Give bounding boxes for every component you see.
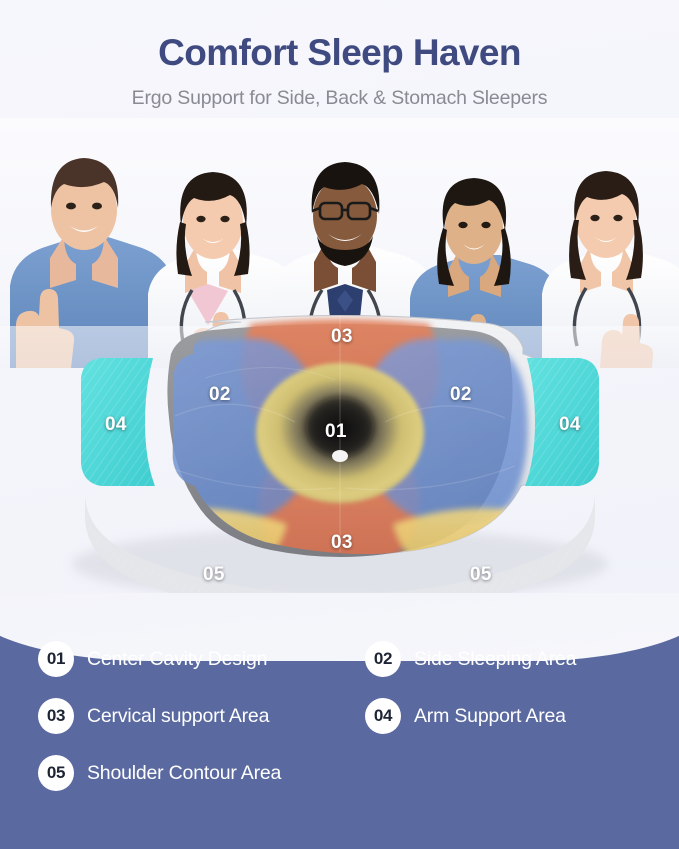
legend-label-03: Cervical support Area bbox=[87, 705, 269, 728]
legend-badge-04: 04 bbox=[365, 698, 401, 734]
header: Comfort Sleep Haven Ergo Support for Sid… bbox=[0, 0, 679, 110]
legend-item-01: 01 Center Cavity Design bbox=[0, 641, 350, 677]
legend-badge-05: 05 bbox=[38, 755, 74, 791]
legend-label-01: Center Cavity Design bbox=[87, 648, 267, 671]
product-infographic: Comfort Sleep Haven Ergo Support for Sid… bbox=[0, 0, 679, 849]
legend-panel: 01 Center Cavity Design 02 Side Sleeping… bbox=[0, 593, 679, 849]
page-title: Comfort Sleep Haven bbox=[0, 34, 679, 73]
legend-label-05: Shoulder Contour Area bbox=[87, 762, 281, 785]
legend-badge-02: 02 bbox=[365, 641, 401, 677]
legend-badge-03: 03 bbox=[38, 698, 74, 734]
legend-item-02: 02 Side Sleeping Area bbox=[350, 641, 679, 677]
legend-item-03: 03 Cervical support Area bbox=[0, 698, 350, 734]
legend-item-05: 05 Shoulder Contour Area bbox=[0, 755, 350, 791]
legend-label-02: Side Sleeping Area bbox=[414, 648, 576, 671]
legend-item-empty bbox=[350, 755, 679, 791]
legend-item-04: 04 Arm Support Area bbox=[350, 698, 679, 734]
legend-grid: 01 Center Cavity Design 02 Side Sleeping… bbox=[0, 641, 679, 791]
legend-badge-01: 01 bbox=[38, 641, 74, 677]
ergonomic-pillow-diagram: 01 02 02 03 03 04 04 05 05 bbox=[55, 296, 625, 606]
legend-label-04: Arm Support Area bbox=[414, 705, 566, 728]
page-subtitle: Ergo Support for Side, Back & Stomach Sl… bbox=[0, 87, 679, 110]
